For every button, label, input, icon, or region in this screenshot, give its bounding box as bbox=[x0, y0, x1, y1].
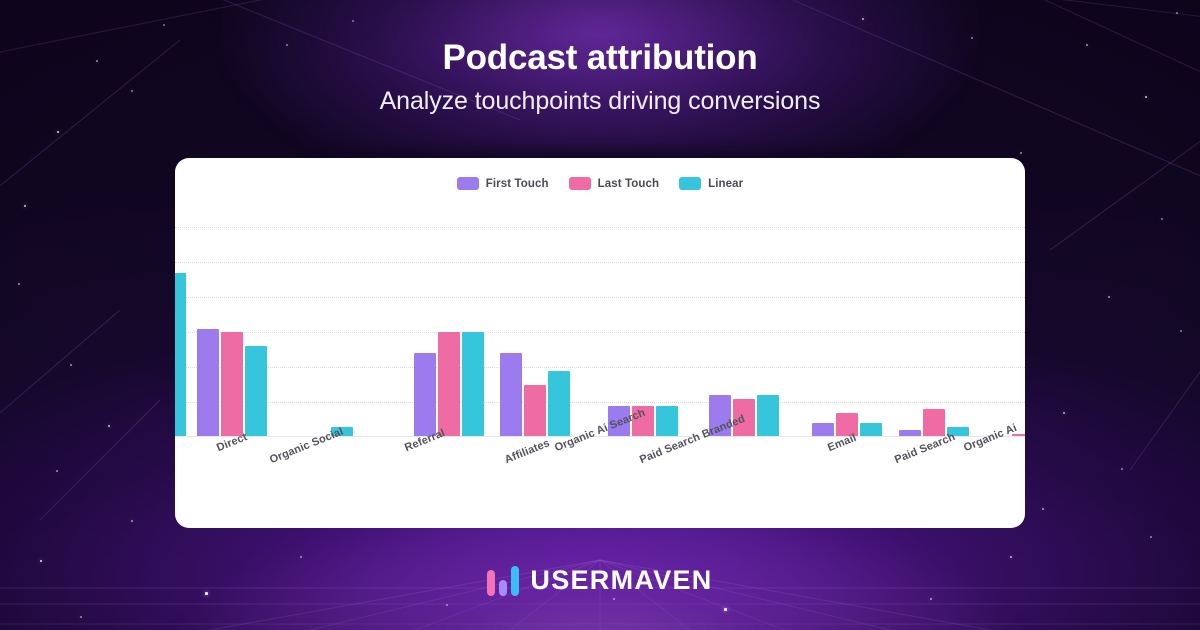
star-dot bbox=[300, 556, 302, 558]
bar-first-touch[interactable] bbox=[197, 329, 219, 438]
star-dot bbox=[1161, 218, 1163, 220]
legend-swatch-icon bbox=[569, 177, 591, 190]
star-dot bbox=[930, 598, 932, 600]
chart-bars bbox=[175, 227, 1025, 437]
star-dot bbox=[1108, 296, 1110, 298]
star-dot bbox=[613, 598, 615, 600]
bar-linear[interactable] bbox=[860, 423, 882, 437]
star-dot bbox=[1042, 508, 1044, 510]
chart-x-axis: DirectOrganic SocialReferralAffiliatesOr… bbox=[175, 437, 1025, 497]
legend-item-linear[interactable]: Linear bbox=[679, 177, 743, 190]
star-dot bbox=[1180, 330, 1182, 332]
page-subtitle: Analyze touchpoints driving conversions bbox=[0, 87, 1200, 116]
bar-group-direct bbox=[197, 227, 267, 437]
bar-group-organic-ai-search bbox=[608, 227, 678, 437]
bar-linear[interactable] bbox=[245, 346, 267, 437]
legend-swatch-icon bbox=[457, 177, 479, 190]
bar-group-organic-ai bbox=[988, 227, 1025, 437]
chart-card: First TouchLast TouchLinear DirectOrgani… bbox=[175, 158, 1025, 528]
legend-label: Linear bbox=[708, 178, 743, 190]
legend-label: Last Touch bbox=[598, 178, 659, 190]
bar-group-affiliates bbox=[500, 227, 570, 437]
bar-group-email bbox=[812, 227, 882, 437]
star-dot bbox=[1176, 12, 1178, 14]
bar-last-touch[interactable] bbox=[524, 385, 546, 438]
brand-logo: USERMAVEN bbox=[0, 565, 1200, 596]
legend-item-last-touch[interactable]: Last Touch bbox=[569, 177, 659, 190]
legend-item-first-touch[interactable]: First Touch bbox=[457, 177, 549, 190]
legend-swatch-icon bbox=[679, 177, 701, 190]
star-dot bbox=[70, 364, 72, 366]
bar-group-paid-search bbox=[899, 227, 969, 437]
bar-last-touch[interactable] bbox=[438, 332, 460, 437]
bar-first-touch[interactable] bbox=[414, 353, 436, 437]
chart-x-axis-labels: DirectOrganic SocialReferralAffiliatesOr… bbox=[175, 437, 1025, 497]
legend-label: First Touch bbox=[486, 178, 549, 190]
logo-bar-pink bbox=[487, 570, 495, 596]
bar-last-touch[interactable] bbox=[221, 332, 243, 437]
bar-group-organic-social bbox=[283, 227, 353, 437]
logo-bar-cyan bbox=[511, 566, 519, 596]
star-dot bbox=[1121, 468, 1123, 470]
star-dot bbox=[163, 24, 165, 26]
header: Podcast attribution Analyze touchpoints … bbox=[0, 38, 1200, 116]
star-dot bbox=[80, 616, 82, 618]
star-dot bbox=[18, 283, 20, 285]
star-dot bbox=[1020, 152, 1022, 154]
x-axis-label: Affiliates bbox=[503, 437, 552, 466]
bar-group-referral bbox=[414, 227, 484, 437]
page-title: Podcast attribution bbox=[0, 38, 1200, 78]
chart-plot-area bbox=[175, 227, 1025, 437]
bar-group-paid-search-branded bbox=[709, 227, 779, 437]
x-axis-label: Paid Search bbox=[893, 431, 957, 466]
bar-linear[interactable] bbox=[757, 395, 779, 437]
star-dot bbox=[724, 608, 727, 611]
bar-linear[interactable] bbox=[462, 332, 484, 437]
bar-linear[interactable] bbox=[548, 371, 570, 438]
chart-legend: First TouchLast TouchLinear bbox=[175, 177, 1025, 190]
star-dot bbox=[352, 20, 354, 22]
usermaven-logo-icon bbox=[487, 566, 519, 596]
star-dot bbox=[446, 604, 448, 606]
bar-first-touch[interactable] bbox=[500, 353, 522, 437]
star-dot bbox=[1150, 536, 1152, 538]
bar-linear[interactable] bbox=[656, 406, 678, 438]
bar-last-touch[interactable] bbox=[923, 409, 945, 437]
bar-linear-clipped[interactable] bbox=[175, 273, 186, 438]
star-dot bbox=[131, 520, 133, 522]
brand-name: USERMAVEN bbox=[530, 565, 712, 596]
bar-first-touch[interactable] bbox=[812, 423, 834, 437]
star-dot bbox=[56, 470, 58, 472]
logo-bar-purple bbox=[499, 580, 507, 596]
